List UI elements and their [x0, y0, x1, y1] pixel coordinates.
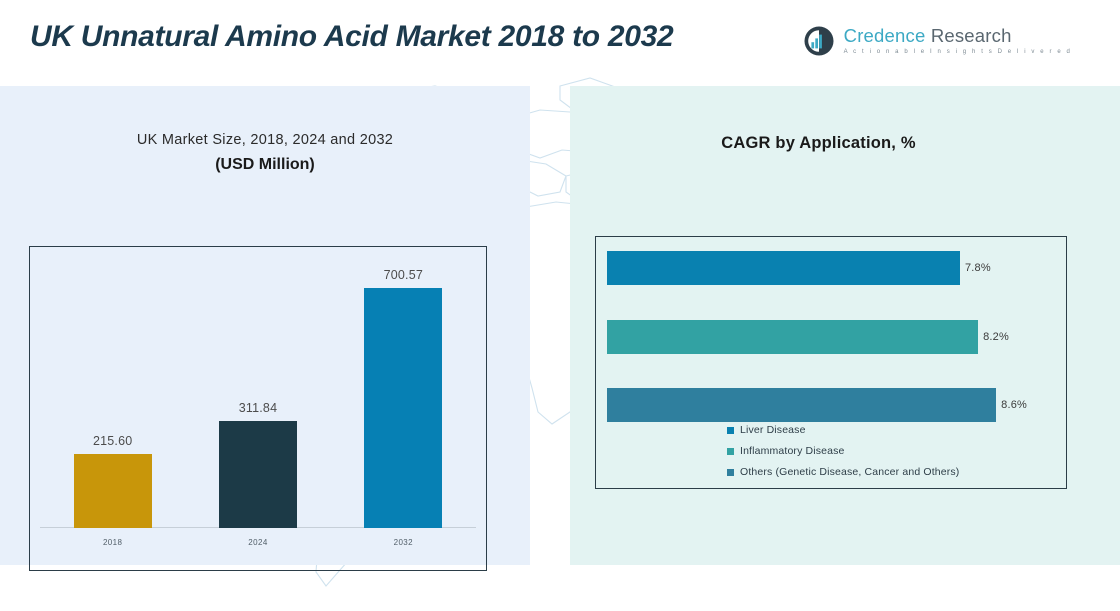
bar-value-label: 311.84 [239, 401, 278, 415]
market-size-chart: 215.60311.84700.57 201820242032 [29, 246, 487, 571]
cagr-section: CAGR by Application, % 7.8%8.2%8.6% Live… [570, 86, 1120, 565]
bar-row: 8.2% [607, 320, 1055, 354]
credence-bar-chart-circle-icon [803, 25, 835, 57]
bar-row: 7.8% [607, 251, 1055, 285]
bar-rect [607, 388, 996, 422]
legend-label: Liver Disease [740, 424, 806, 436]
legend-swatch-icon [727, 469, 734, 476]
legend-item[interactable]: Others (Genetic Disease, Cancer and Othe… [727, 466, 959, 478]
legend-label: Inflammatory Disease [740, 445, 845, 457]
bar-rect [364, 288, 442, 528]
logo-word-credence: Credence [844, 25, 926, 46]
legend-swatch-icon [727, 427, 734, 434]
legend-item[interactable]: Liver Disease [727, 424, 959, 436]
logo-word-research: Research [931, 25, 1012, 46]
legend-label: Others (Genetic Disease, Cancer and Othe… [740, 466, 959, 478]
bar-column: 215.60 [40, 257, 185, 528]
credence-research-logo: Credence Research A c t i o n a b l e I … [803, 25, 1072, 57]
x-axis-tick: 2024 [185, 538, 330, 558]
bar-value-label: 7.8% [965, 262, 991, 274]
header: UK Unnatural Amino Acid Market 2018 to 2… [0, 0, 1120, 86]
cagr-legend: Liver DiseaseInflammatory DiseaseOthers … [727, 424, 959, 478]
market-size-section: UK Market Size, 2018, 2024 and 2032 (USD… [0, 86, 530, 565]
bar-column: 700.57 [331, 257, 476, 528]
x-axis-tick-labels: 201820242032 [40, 538, 476, 558]
bar-row: 8.6% [607, 388, 1055, 422]
page-title: UK Unnatural Amino Acid Market 2018 to 2… [30, 20, 673, 54]
bar-value-label: 215.60 [93, 434, 132, 448]
horizontal-bar-series: 7.8%8.2%8.6% [607, 251, 1055, 422]
bar-value-label: 8.6% [1001, 399, 1027, 411]
legend-swatch-icon [727, 448, 734, 455]
x-axis-tick: 2018 [40, 538, 185, 558]
market-size-subtitle: UK Market Size, 2018, 2024 and 2032 [0, 132, 530, 148]
x-axis-tick: 2032 [331, 538, 476, 558]
bar-rect [607, 320, 978, 354]
bar-rect [607, 251, 960, 285]
bar-column: 311.84 [185, 257, 330, 528]
bar-value-label: 8.2% [983, 331, 1009, 343]
logo-wordmark: Credence Research [844, 27, 1072, 46]
logo-tagline: A c t i o n a b l e I n s i g h t s D e … [844, 49, 1072, 55]
bar-rect [219, 421, 297, 528]
vertical-bar-series: 215.60311.84700.57 [40, 257, 476, 528]
bar-rect [74, 454, 152, 528]
cagr-title: CAGR by Application, % [570, 134, 1067, 153]
market-size-unit: (USD Million) [0, 156, 530, 174]
bar-value-label: 700.57 [384, 268, 423, 282]
legend-item[interactable]: Inflammatory Disease [727, 445, 959, 457]
cagr-chart: 7.8%8.2%8.6% Liver DiseaseInflammatory D… [595, 236, 1067, 489]
